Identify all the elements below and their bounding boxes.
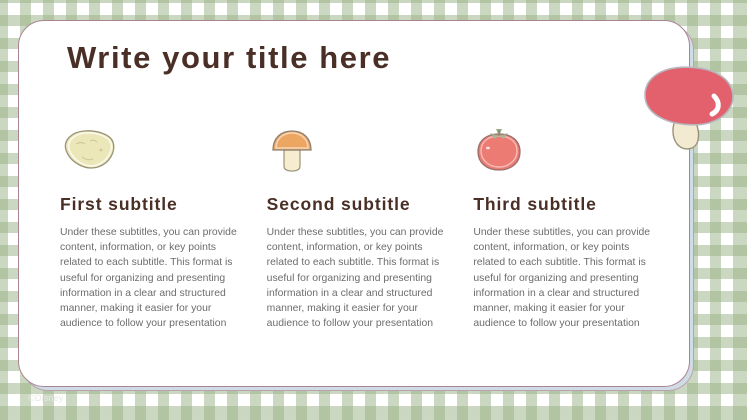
column-icon-wrapper: [267, 124, 456, 176]
column-first: First subtitle Under these subtitles, yo…: [60, 124, 267, 354]
column-body-text[interactable]: Under these subtitles, you can provide c…: [60, 225, 246, 331]
column-body-text[interactable]: Under these subtitles, you can provide c…: [473, 225, 659, 331]
column-icon-wrapper: [473, 124, 662, 176]
column-body-text[interactable]: Under these subtitles, you can provide c…: [267, 225, 453, 331]
columns-container: First subtitle Under these subtitles, yo…: [60, 124, 680, 354]
column-second: Second subtitle Under these subtitles, y…: [267, 124, 474, 354]
copyright-credit: ©Disney: [28, 393, 64, 403]
slide-canvas: Write your title here First subtitle Und…: [0, 0, 747, 420]
column-icon-wrapper: [60, 124, 249, 176]
column-heading[interactable]: Second subtitle: [267, 194, 456, 215]
column-third: Third subtitle Under these subtitles, yo…: [473, 124, 680, 354]
column-heading[interactable]: First subtitle: [60, 194, 249, 215]
page-title[interactable]: Write your title here: [67, 40, 587, 76]
column-heading[interactable]: Third subtitle: [473, 194, 662, 215]
mushroom-icon: [267, 126, 317, 174]
potato-icon: [60, 128, 118, 172]
tomato-icon: [473, 126, 527, 174]
